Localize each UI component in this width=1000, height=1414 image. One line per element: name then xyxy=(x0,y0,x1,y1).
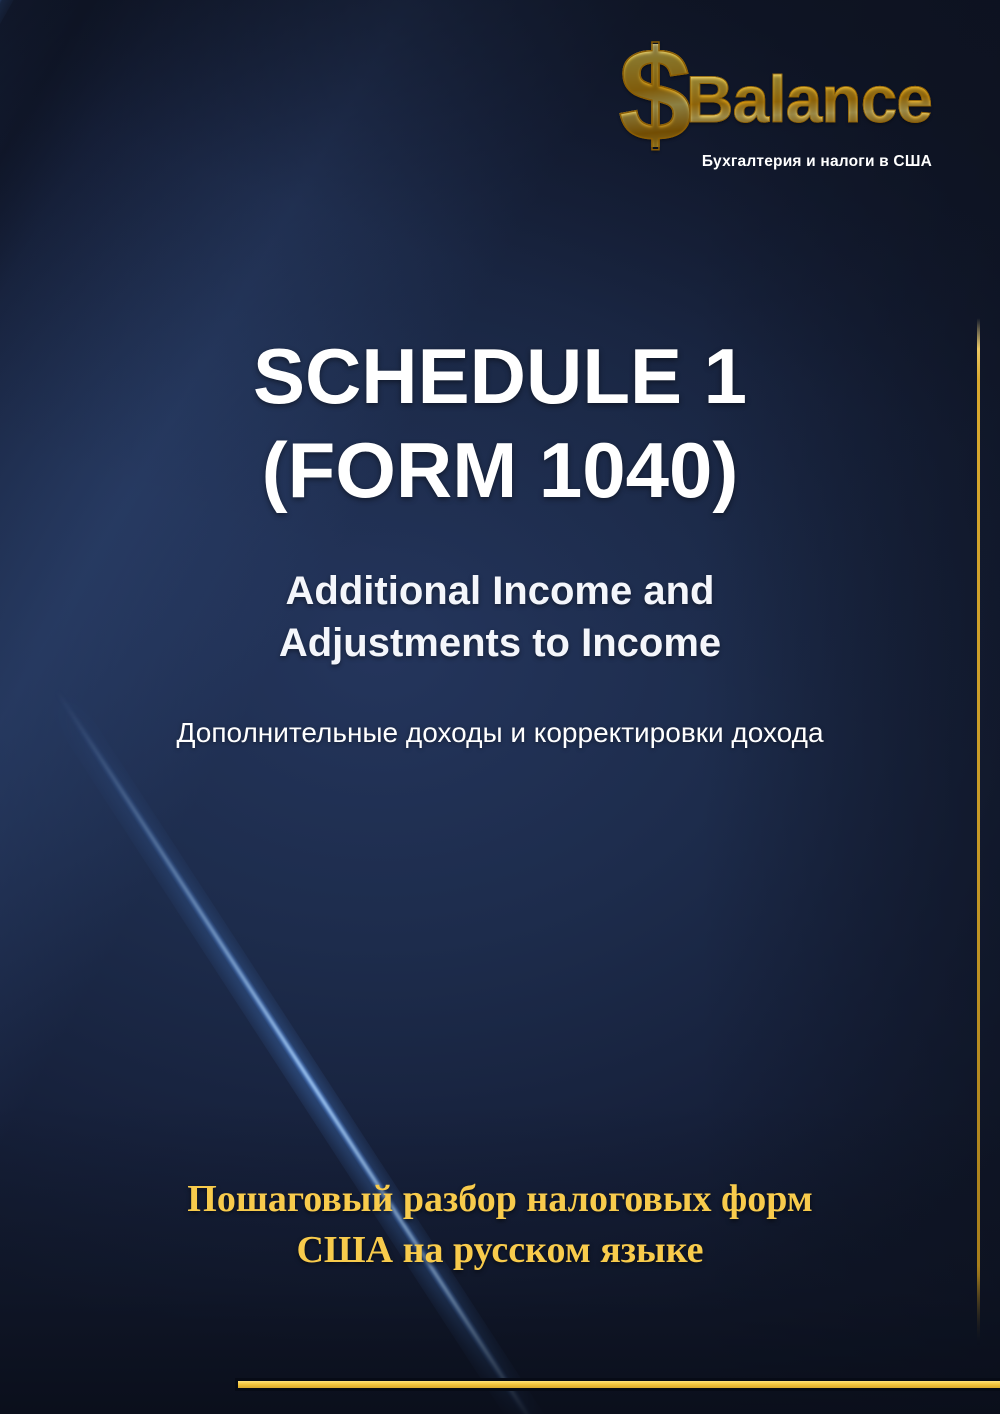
footer-tagline-line-1: Пошаговый разбор налоговых форм xyxy=(150,1174,850,1225)
page-title-line-2: (FORM 1040) xyxy=(150,424,850,518)
page-title-line-1: SCHEDULE 1 xyxy=(150,330,850,424)
page-subtitle-line-1: Additional Income and xyxy=(150,565,850,617)
footer-tagline-line-2: США на русском языке xyxy=(150,1225,850,1276)
cover-page: $ Balance Бухгалтерия и налоги в США SCH… xyxy=(0,0,1000,1414)
light-streak-glow-icon xyxy=(40,681,885,1414)
gold-horizontal-rule xyxy=(238,1381,1000,1388)
light-streak-icon xyxy=(52,687,877,1414)
brand-logo: $ Balance Бухгалтерия и налоги в США xyxy=(618,52,932,169)
brand-logo-row: $ Balance xyxy=(618,52,932,147)
brand-name: Balance xyxy=(686,66,932,132)
footer-tagline: Пошаговый разбор налоговых форм США на р… xyxy=(150,1174,850,1277)
page-title: SCHEDULE 1 (FORM 1040) xyxy=(150,330,850,517)
dollar-sign-icon: $ xyxy=(618,44,691,147)
page-subtitle: Additional Income and Adjustments to Inc… xyxy=(150,565,850,669)
page-subtitle-line-2: Adjustments to Income xyxy=(150,617,850,669)
gold-vertical-rule xyxy=(977,318,980,1348)
cover-text-block: SCHEDULE 1 (FORM 1040) Additional Income… xyxy=(150,330,850,752)
page-subtitle-translation: Дополнительные доходы и корректировки до… xyxy=(150,715,850,751)
